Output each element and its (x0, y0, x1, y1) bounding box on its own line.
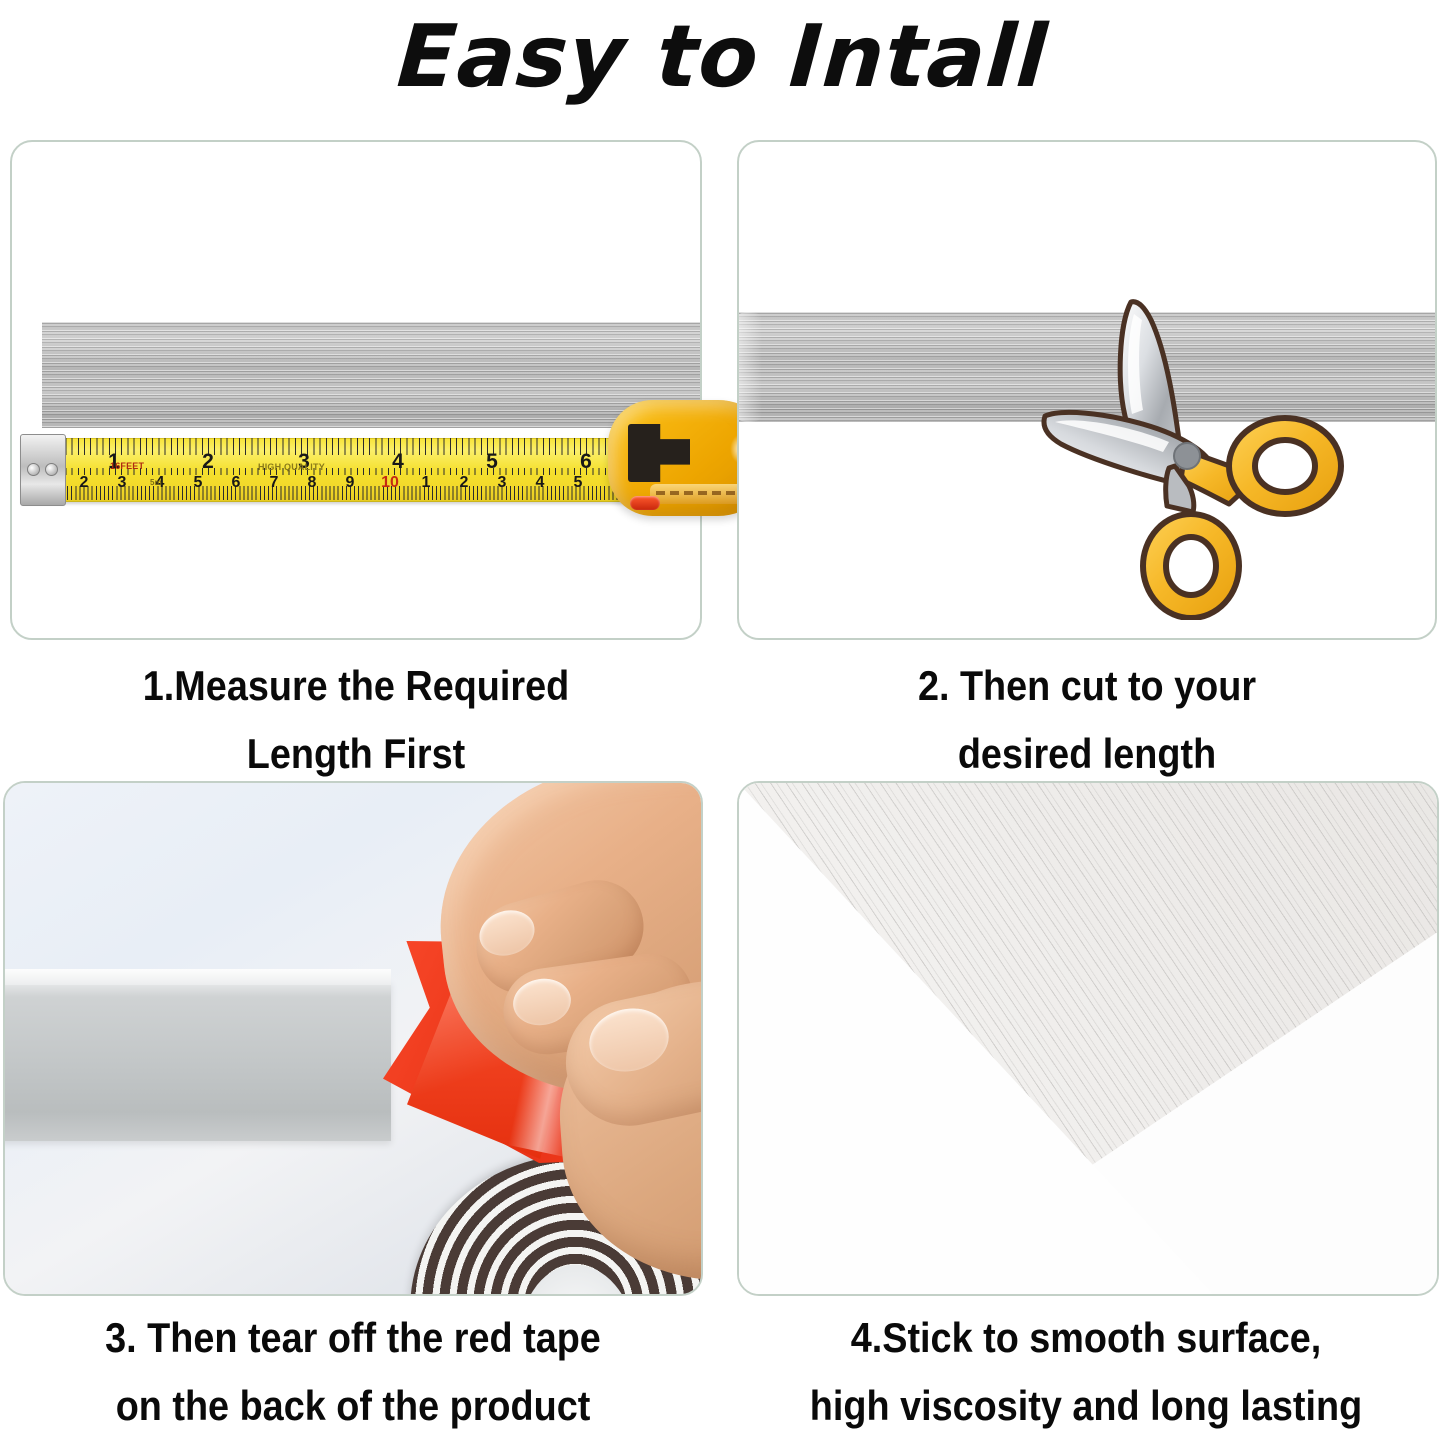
cm-mark: 2 (460, 474, 469, 492)
page-title: Easy to Intall (0, 2, 1445, 112)
tape-release-button (630, 496, 660, 510)
cm-mark: 6 (232, 474, 241, 492)
infographic-page: Easy to Intall 1 2 3 4 5 6 16FEET HIGH Q (0, 0, 1445, 1432)
tape-cm-numbers: 2 3 4 5 6 7 8 9 10 1 2 3 4 5 (22, 474, 642, 492)
cm-mark: 5 (574, 474, 583, 492)
cm-mark: 4 (536, 474, 545, 492)
step-2-caption: 2. Then cut to your desired length (772, 652, 1402, 788)
inch-mark: 6 (580, 450, 592, 474)
inch-mark: 5 (486, 450, 498, 474)
cm-mark: 3 (498, 474, 507, 492)
caption-line: 4.Stick to smooth surface, (766, 1304, 1407, 1372)
step-3-panel (3, 781, 703, 1296)
cm-mark: 9 (346, 474, 355, 492)
step-4-panel (737, 781, 1439, 1296)
scissors-ring-hole-bottom (1166, 537, 1216, 595)
step-4-illustration (739, 783, 1437, 1294)
caption-line: on the back of the product (35, 1372, 670, 1440)
coil-core (515, 1261, 636, 1294)
tape-measure-blade: 1 2 3 4 5 6 16FEET HIGH QUALITY 2 3 4 5 … (22, 438, 642, 500)
caption-line: desired length (772, 720, 1402, 788)
tape-brand-label: 16FEET (110, 461, 144, 471)
step-2-panel (737, 140, 1437, 640)
cm-mark-red: 10 (381, 474, 399, 492)
gray-trim-strip (5, 981, 391, 1141)
caption-line: 2. Then cut to your (772, 652, 1402, 720)
inch-mark: 2 (202, 450, 214, 474)
step-3-illustration (5, 783, 701, 1294)
step-1-panel: 1 2 3 4 5 6 16FEET HIGH QUALITY 2 3 4 5 … (10, 140, 702, 640)
gray-trim-strip (42, 322, 700, 428)
step-1-caption: 1.Measure the Required Length First (45, 652, 668, 788)
inch-mark: 4 (392, 450, 404, 474)
caption-line: 3. Then tear off the red tape (35, 1304, 670, 1372)
step-1-illustration: 1 2 3 4 5 6 16FEET HIGH QUALITY 2 3 4 5 … (12, 142, 700, 638)
caption-line: Length First (45, 720, 668, 788)
cm-mark: 5 (194, 474, 203, 492)
cm-mark: 8 (308, 474, 317, 492)
cm-mark: 7 (270, 474, 279, 492)
tape-metric-label: 5m (150, 478, 162, 487)
step-2-illustration (739, 142, 1435, 638)
step-4-caption: 4.Stick to smooth surface, high viscosit… (766, 1304, 1407, 1440)
cm-mark: 1 (422, 474, 431, 492)
tape-end-hook (20, 434, 66, 506)
scissors-pivot-screw (1174, 443, 1200, 469)
scissors-ring-hole-right (1255, 440, 1315, 492)
tape-quality-label: HIGH QUALITY (258, 462, 325, 472)
cm-mark: 2 (80, 474, 89, 492)
cm-mark: 3 (118, 474, 127, 492)
tape-housing-label (650, 484, 748, 504)
step-3-caption: 3. Then tear off the red tape on the bac… (35, 1304, 670, 1440)
caption-line: 1.Measure the Required (45, 652, 668, 720)
scissors-icon (1039, 290, 1359, 620)
caption-line: high viscosity and long lasting (766, 1372, 1407, 1440)
